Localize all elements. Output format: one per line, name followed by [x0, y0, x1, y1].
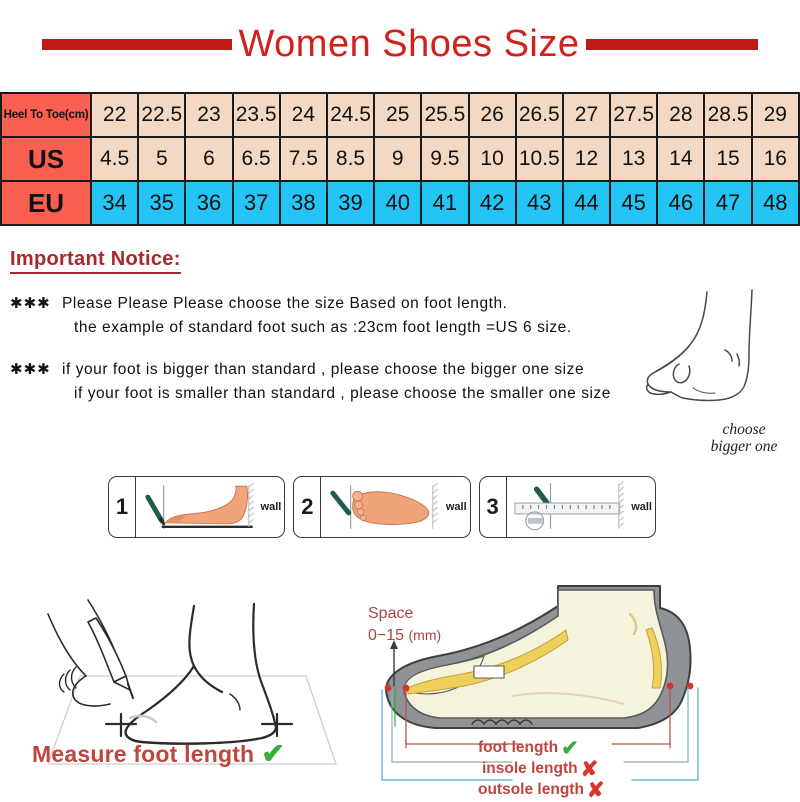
page-title-bar: Women Shoes Size — [0, 14, 800, 74]
space-measurement-label: Space 0−15 (mm) — [368, 603, 441, 646]
space-label-line-2: 0−15 (mm) — [368, 625, 441, 647]
notice-line: ✱✱✱ Please Please Please choose the size… — [10, 292, 690, 316]
table-cell: 27.5 — [611, 94, 656, 136]
step-box-1: 1 — [108, 476, 285, 538]
table-cell: 45 — [611, 182, 656, 224]
space-unit: (mm) — [409, 627, 442, 643]
table-cell: 5 — [139, 138, 184, 180]
row-label-eu: EU — [2, 182, 90, 224]
row-label-heel-to-toe: Heel To Toe(cm) — [2, 94, 90, 136]
check-mark-icon: ✔ — [261, 740, 285, 768]
measure-caption-text: Measure foot length — [32, 741, 254, 768]
notice-line: if your foot is smaller than standard , … — [10, 382, 690, 406]
table-cell: 25.5 — [422, 94, 467, 136]
notice-text: Please Please Please choose the size Bas… — [62, 292, 508, 316]
wall-label: wall — [261, 501, 282, 513]
table-cell: 29 — [753, 94, 798, 136]
important-notice-section: Important Notice: ✱✱✱ Please Please Plea… — [10, 248, 690, 406]
table-cell: 24.5 — [328, 94, 373, 136]
table-row-us: US 4.5 5 6 6.5 7.5 8.5 9 9.5 10 10.5 12 … — [2, 138, 798, 180]
legend-item-insole-length: insole length ✘ — [478, 759, 605, 780]
foot-side-outline-icon — [645, 280, 795, 430]
table-cell: 13 — [611, 138, 656, 180]
table-cell: 47 — [705, 182, 750, 224]
title-rule-right — [586, 39, 758, 50]
table-row-eu: EU 34 35 36 37 38 39 40 41 42 43 44 45 4… — [2, 182, 798, 224]
table-cell: 6.5 — [234, 138, 279, 180]
table-cell: 22 — [92, 94, 137, 136]
table-cell: 10.5 — [517, 138, 562, 180]
table-cell: 34 — [92, 182, 137, 224]
ruler-measure-icon: wall — [507, 477, 655, 537]
table-cell: 41 — [422, 182, 467, 224]
table-cell: 26.5 — [517, 94, 562, 136]
step-box-3: 3 — [479, 476, 656, 538]
table-cell: 40 — [375, 182, 420, 224]
table-cell: 39 — [328, 182, 373, 224]
size-conversion-table: Heel To Toe(cm) 22 22.5 23 23.5 24 24.5 … — [0, 92, 800, 226]
notice-text: if your foot is bigger than standard , p… — [62, 358, 584, 382]
table-cell: 26 — [470, 94, 515, 136]
asterisk-marker-icon: ✱✱✱ — [10, 292, 62, 315]
row-label-us: US — [2, 138, 90, 180]
table-cell: 7.5 — [281, 138, 326, 180]
wall-label: wall — [631, 501, 652, 513]
notice-heading: Important Notice: — [10, 248, 181, 274]
table-cell: 44 — [564, 182, 609, 224]
measure-foot-length-caption: Measure foot length ✔ — [32, 740, 285, 768]
table-cell: 22.5 — [139, 94, 184, 136]
table-cell: 6 — [186, 138, 231, 180]
size-table-body: Heel To Toe(cm) 22 22.5 23 23.5 24 24.5 … — [2, 94, 798, 224]
legend-item-foot-length: foot length ✔ — [478, 738, 605, 759]
check-mark-icon: ✔ — [561, 738, 579, 759]
table-cell: 24 — [281, 94, 326, 136]
length-legend: foot length ✔ insole length ✘ outsole le… — [478, 738, 605, 801]
legend-label: outsole length — [478, 781, 584, 800]
title-rule-left — [42, 39, 232, 50]
legend-label: foot length — [478, 739, 558, 758]
notice-line: ✱✱✱ if your foot is bigger than standard… — [10, 358, 690, 382]
foot-sketch-caption: choose bigger one — [684, 421, 800, 456]
table-cell: 36 — [186, 182, 231, 224]
legend-label: insole length — [482, 760, 578, 779]
notice-block-1: ✱✱✱ Please Please Please choose the size… — [10, 292, 690, 340]
table-cell: 12 — [564, 138, 609, 180]
table-cell: 48 — [753, 182, 798, 224]
table-cell: 43 — [517, 182, 562, 224]
notice-text: if your foot is smaller than standard , … — [62, 382, 611, 406]
caption-line-2: bigger one — [684, 438, 800, 455]
table-cell: 9.5 — [422, 138, 467, 180]
table-cell: 38 — [281, 182, 326, 224]
table-cell: 10 — [470, 138, 515, 180]
step-number: 2 — [294, 477, 321, 537]
notice-text: the example of standard foot such as :23… — [62, 316, 572, 340]
table-cell: 23.5 — [234, 94, 279, 136]
table-cell: 15 — [705, 138, 750, 180]
table-cell: 42 — [470, 182, 515, 224]
measurement-steps: 1 — [108, 476, 656, 538]
table-cell: 27 — [564, 94, 609, 136]
space-label-line-1: Space — [368, 603, 441, 625]
table-cell: 25 — [375, 94, 420, 136]
cross-mark-icon: ✘ — [587, 780, 605, 801]
table-cell: 16 — [753, 138, 798, 180]
table-cell: 46 — [658, 182, 703, 224]
notice-line: the example of standard foot such as :23… — [10, 316, 690, 340]
caption-line-1: choose — [684, 421, 800, 438]
notice-block-2: ✱✱✱ if your foot is bigger than standard… — [10, 358, 690, 406]
step-number: 3 — [480, 477, 507, 537]
asterisk-marker-icon: ✱✱✱ — [10, 358, 62, 381]
table-cell: 9 — [375, 138, 420, 180]
legend-item-outsole-length: outsole length ✘ — [478, 780, 605, 801]
foot-side-view-against-wall-icon: wall — [136, 477, 284, 537]
table-cell: 28.5 — [705, 94, 750, 136]
step-box-2: 2 — [293, 476, 470, 538]
space-value: 0−15 — [368, 627, 404, 644]
table-cell: 35 — [139, 182, 184, 224]
table-cell: 4.5 — [92, 138, 137, 180]
step-number: 1 — [109, 477, 136, 537]
wall-label: wall — [446, 501, 467, 513]
foot-top-view-against-wall-icon: wall — [321, 477, 469, 537]
table-row-heel-to-toe: Heel To Toe(cm) 22 22.5 23 23.5 24 24.5 … — [2, 94, 798, 136]
table-cell: 8.5 — [328, 138, 373, 180]
table-cell: 28 — [658, 94, 703, 136]
table-cell: 14 — [658, 138, 703, 180]
table-cell: 23 — [186, 94, 231, 136]
page-title: Women Shoes Size — [232, 23, 585, 66]
cross-mark-icon: ✘ — [581, 759, 599, 780]
table-cell: 37 — [234, 182, 279, 224]
